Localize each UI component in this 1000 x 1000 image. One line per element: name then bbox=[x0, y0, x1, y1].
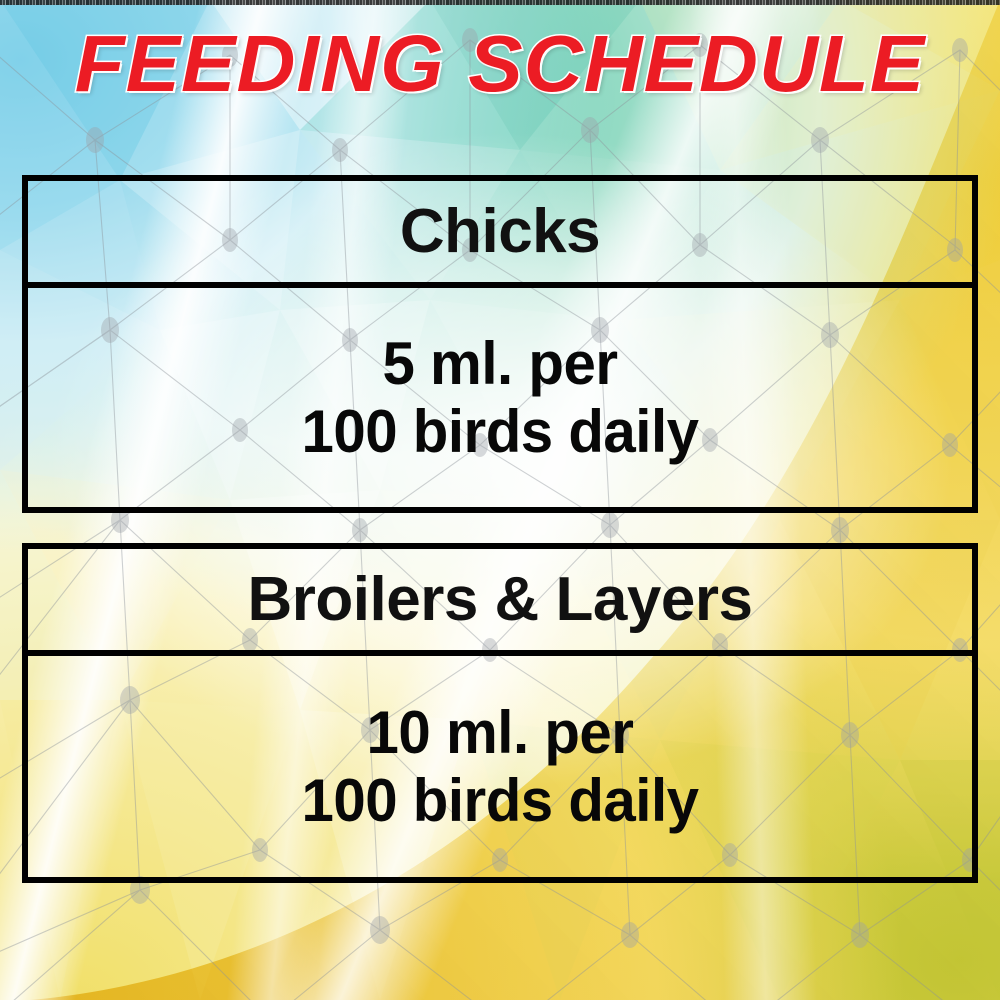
table-body-chicks: 5 ml. per 100 birds daily bbox=[42, 288, 958, 507]
table-header-broilers-layers: Broilers & Layers bbox=[28, 549, 972, 656]
dose-line-2-chicks: 100 birds daily bbox=[301, 398, 698, 465]
table-body-broilers-layers: 10 ml. per 100 birds daily bbox=[42, 656, 958, 877]
page-title: FEEDING SCHEDULE bbox=[0, 18, 1000, 110]
dose-line-2-broilers-layers: 100 birds daily bbox=[301, 767, 698, 834]
schedule-table-broilers-layers: Broilers & Layers 10 ml. per 100 birds d… bbox=[22, 543, 978, 883]
dose-line-1-broilers-layers: 10 ml. per bbox=[301, 699, 698, 766]
table-header-chicks: Chicks bbox=[28, 181, 972, 288]
feeding-schedule-poster: FEEDING SCHEDULE Chicks 5 ml. per 100 bi… bbox=[0, 0, 1000, 1000]
dose-line-1-chicks: 5 ml. per bbox=[301, 330, 698, 397]
schedule-table-chicks: Chicks 5 ml. per 100 birds daily bbox=[22, 175, 978, 513]
top-edge-artifact bbox=[0, 0, 1000, 5]
